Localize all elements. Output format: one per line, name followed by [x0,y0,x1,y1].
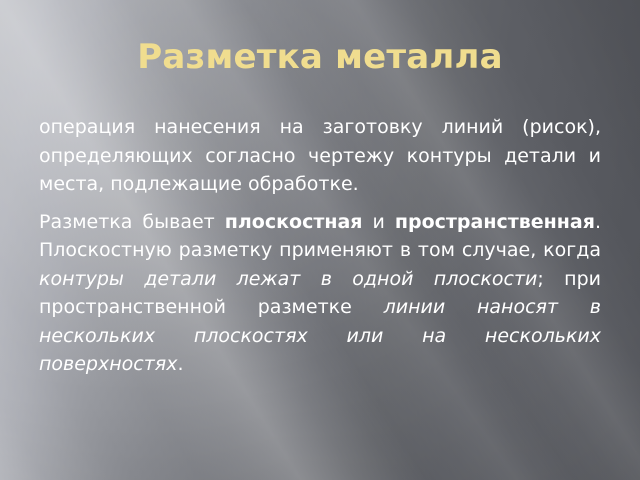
text-run: . [177,353,183,375]
text-run: Разметка бывает [39,211,225,233]
text-run: и [363,211,395,233]
emphasis-bold: плоскостная [225,211,363,233]
slide-content: Разметка металла операция нанесения на з… [0,0,640,480]
slide-body: операция нанесения на заготовку линий (р… [39,113,601,379]
emphasis-italic: контуры детали лежат в одной плоскости [39,268,537,290]
presentation-slide: Разметка металла операция нанесения на з… [0,0,640,480]
body-paragraph: Разметка бывает плоскостная и пространст… [39,208,601,379]
slide-title: Разметка металла [0,36,640,78]
emphasis-bold: пространственная [395,211,595,233]
body-paragraph: операция нанесения на заготовку линий (р… [39,113,601,199]
text-run: операция нанесения на заготовку линий (р… [39,116,601,195]
